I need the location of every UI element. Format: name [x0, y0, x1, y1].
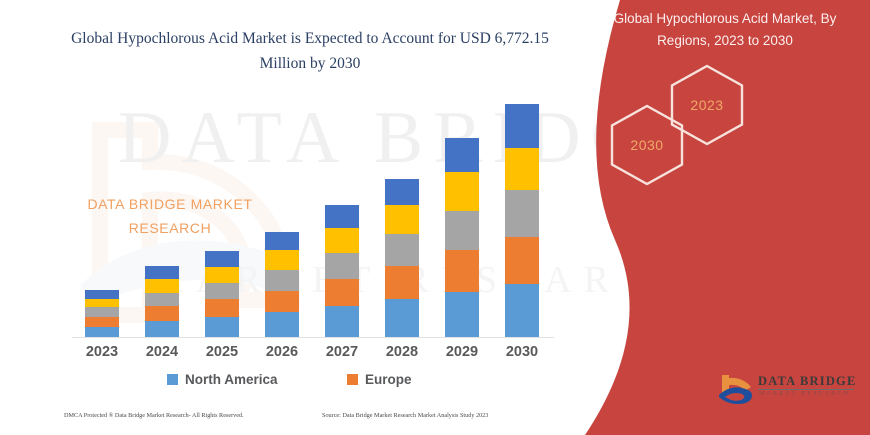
bar-segment [445, 292, 479, 337]
bar-segment [445, 172, 479, 211]
data-bridge-logo: DATA BRIDGE MARKET RESEARCH [718, 372, 858, 410]
bar-segment [325, 253, 359, 279]
bar-2024 [145, 266, 179, 337]
bar-segment [145, 321, 179, 337]
bar-segment [85, 299, 119, 308]
bar-segment [85, 327, 119, 337]
brand-name: DATA BRIDGE MARKET RESEARCH [55, 192, 285, 240]
logo-text-main: DATA BRIDGE [758, 374, 857, 389]
page-title: Global Hypochlorous Acid Market is Expec… [60, 26, 560, 76]
bar-segment [265, 270, 299, 291]
x-axis-label-2030: 2030 [492, 344, 552, 360]
bar-segment [205, 299, 239, 317]
legend-item-europe[interactable]: Europe [347, 372, 412, 387]
bar-segment [505, 284, 539, 337]
bar-segment [325, 205, 359, 229]
bar-segment [505, 237, 539, 283]
bar-segment [385, 179, 419, 205]
bar-segment [505, 104, 539, 148]
infographic-slide: DATA BRIDGE MARKET RESEARCH Global Hypoc… [0, 0, 870, 435]
logo-divider [758, 389, 854, 390]
chart-legend: North AmericaEurope [72, 372, 552, 394]
bar-segment [325, 306, 359, 337]
bar-segment [505, 148, 539, 189]
x-axis-label-2028: 2028 [372, 344, 432, 360]
bar-segment [385, 205, 419, 235]
bar-segment [265, 291, 299, 313]
x-axis-tick-labels: 20232024202520262027202820292030 [72, 344, 552, 368]
bar-segment [145, 279, 179, 293]
logo-text-sub: MARKET RESEARCH [759, 391, 850, 397]
bar-segment [385, 234, 419, 266]
bar-2027 [325, 205, 359, 337]
x-axis-label-2026: 2026 [252, 344, 312, 360]
x-axis-line [72, 337, 554, 338]
bar-segment [265, 312, 299, 337]
legend-swatch-icon [167, 374, 178, 385]
bar-segment [85, 290, 119, 299]
legend-swatch-icon [347, 374, 358, 385]
brand-panel-title: Global Hypochlorous Acid Market, By Regi… [600, 8, 850, 52]
bar-segment [445, 250, 479, 291]
bar-segment [205, 283, 239, 300]
bar-segment [265, 250, 299, 270]
bar-2030 [505, 104, 539, 337]
bar-segment [205, 317, 239, 337]
source-note: Source: Data Bridge Market Research Mark… [322, 412, 488, 419]
bar-segment [325, 279, 359, 307]
hexagon-outline-icon [668, 63, 746, 147]
footer: DMCA Protected ® Data Bridge Market Rese… [64, 412, 564, 426]
bar-2029 [445, 138, 479, 337]
bar-segment [325, 228, 359, 253]
bar-segment [445, 211, 479, 251]
bar-2023 [85, 290, 119, 337]
x-axis-label-2023: 2023 [72, 344, 132, 360]
legend-label: North America [185, 372, 278, 387]
dmca-notice: DMCA Protected ® Data Bridge Market Rese… [64, 412, 244, 419]
bar-segment [145, 306, 179, 321]
x-axis-label-2027: 2027 [312, 344, 372, 360]
legend-item-north-america[interactable]: North America [167, 372, 278, 387]
x-axis-label-2029: 2029 [432, 344, 492, 360]
logo-mark-icon [718, 373, 754, 407]
bar-2026 [265, 232, 299, 337]
bar-segment [85, 307, 119, 317]
bar-2025 [205, 251, 239, 337]
bar-segment [445, 138, 479, 173]
bar-segment [145, 293, 179, 307]
x-axis-label-2024: 2024 [132, 344, 192, 360]
bar-segment [205, 267, 239, 283]
bar-segment [205, 251, 239, 267]
legend-label: Europe [365, 372, 412, 387]
brand-panel: Global Hypochlorous Acid Market, By Regi… [560, 0, 870, 435]
hex-badge-2023: 2023 [668, 63, 746, 147]
bar-segment [85, 317, 119, 327]
bar-2028 [385, 179, 419, 337]
x-axis-label-2025: 2025 [192, 344, 252, 360]
bar-segment [385, 299, 419, 337]
bar-segment [505, 190, 539, 237]
bar-segment [145, 266, 179, 279]
bar-segment [385, 266, 419, 300]
